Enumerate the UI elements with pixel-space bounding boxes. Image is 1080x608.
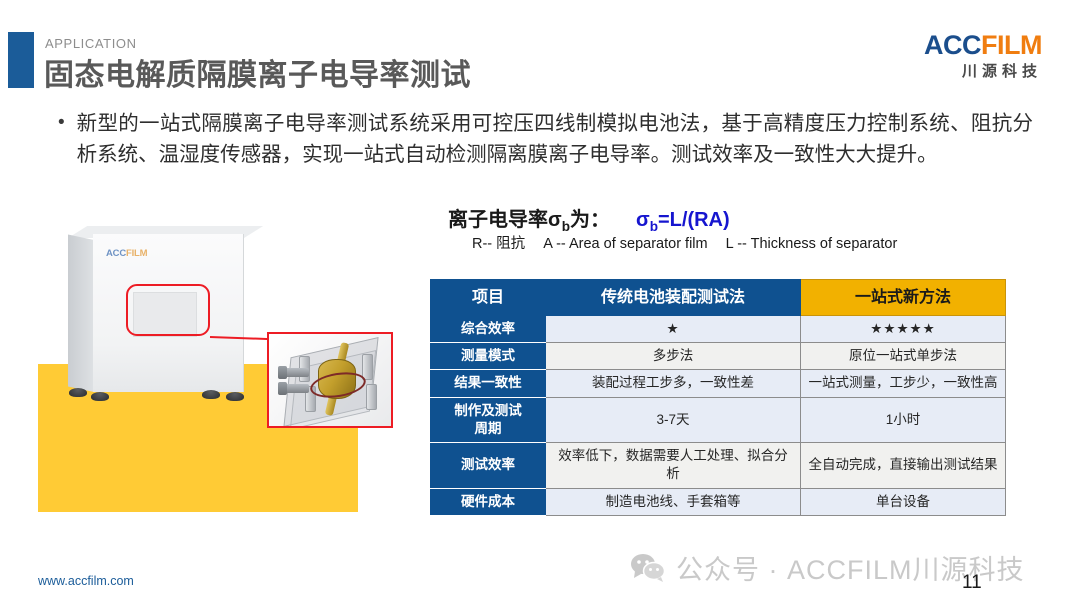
table-row: 结果一致性 装配过程工步多，一致性差 一站式测量，工步少，一致性高	[431, 370, 1006, 397]
logo-subtitle: 川源科技	[924, 64, 1042, 79]
comparison-table: 项目 传统电池装配测试法 一站式新方法 综合效率 ★ ★★★★★ 测量模式 多步…	[430, 279, 1006, 516]
row-label: 硬件成本	[431, 488, 546, 515]
row-value-traditional: ★	[546, 316, 801, 343]
column-header-new-method: 一站式新方法	[801, 280, 1006, 316]
title-accent-bar	[8, 32, 34, 88]
row-value-traditional: 制造电池线、手套箱等	[546, 488, 801, 515]
formula-expr-rhs: =L/(RA)	[658, 209, 730, 231]
intro-paragraph: 新型的一站式隔膜离子电导率测试系统采用可控压四线制模拟电池法，基于高精度压力控制…	[77, 108, 1033, 170]
cabinet-foot	[69, 388, 87, 397]
callout-highlight-box	[126, 284, 210, 336]
formula-label-prefix: 离子电导率σ	[448, 209, 562, 231]
table-header-row: 项目 传统电池装配测试法 一站式新方法	[431, 280, 1006, 316]
brand-logo: ACCFILM 川源科技	[924, 32, 1042, 79]
formula-label-suffix: 为：	[570, 209, 610, 231]
table-row: 测量模式 多步法 原位一站式单步法	[431, 343, 1006, 370]
table-row: 测试效率 效率低下，数据需要人工处理、拟合分析 全自动完成，直接输出测试结果	[431, 443, 1006, 488]
table-row: 综合效率 ★ ★★★★★	[431, 316, 1006, 343]
product-illustration: ACCFILM	[38, 212, 418, 512]
row-value-traditional: 3-7天	[546, 397, 801, 442]
row-value-new: 单台设备	[801, 488, 1006, 515]
row-label: 结果一致性	[431, 370, 546, 397]
legend-resistance: R-- 阻抗	[472, 236, 525, 252]
intro-bullet: • 新型的一站式隔膜离子电导率测试系统采用可控压四线制模拟电池法，基于高精度压力…	[58, 108, 1033, 170]
row-value-new: 原位一站式单步法	[801, 343, 1006, 370]
formula-expr-sigma: σ	[636, 209, 650, 231]
cabinet-foot	[226, 392, 244, 401]
legend-area: A -- Area of separator film	[543, 236, 707, 252]
logo-film-text: FILM	[981, 30, 1042, 60]
comparison-table-body: 项目 传统电池装配测试法 一站式新方法 综合效率 ★ ★★★★★ 测量模式 多步…	[431, 280, 1006, 516]
row-value-new: 一站式测量，工步少，一致性高	[801, 370, 1006, 397]
wechat-icon	[630, 553, 666, 583]
fixture-bolt	[285, 384, 309, 393]
cabinet-logo-acc: ACC	[106, 248, 126, 259]
table-row: 制作及测试 周期 3-7天 1小时	[431, 397, 1006, 442]
bullet-marker: •	[58, 108, 65, 170]
cabinet-side-face	[68, 234, 94, 392]
column-header-item: 项目	[431, 280, 546, 316]
formula-label: 离子电导率σb为：	[448, 203, 610, 234]
row-label: 综合效率	[431, 316, 546, 343]
page-eyebrow: APPLICATION	[45, 36, 137, 51]
row-value-new: 1小时	[801, 397, 1006, 442]
formula-expression: σb=L/(RA)	[636, 209, 730, 234]
table-row: 硬件成本 制造电池线、手套箱等 单台设备	[431, 488, 1006, 515]
footer-website-url[interactable]: www.accfilm.com	[38, 574, 134, 588]
fixture-post	[366, 384, 377, 410]
cabinet-logo-film: FILM	[126, 248, 147, 259]
formula-block: 离子电导率σb为： σb=L/(RA)	[448, 203, 730, 234]
formula-legend: R-- 阻抗 A -- Area of separator film L -- …	[472, 232, 897, 253]
row-label: 测试效率	[431, 443, 546, 488]
row-value-traditional: 装配过程工步多，一致性差	[546, 370, 801, 397]
row-label: 测量模式	[431, 343, 546, 370]
page-title: 固态电解质隔膜离子电导率测试	[44, 50, 471, 94]
cabinet-logo: ACCFILM	[106, 248, 147, 259]
page-number: 11	[962, 572, 982, 594]
row-value-new: 全自动完成，直接输出测试结果	[801, 443, 1006, 488]
test-cell-inset	[267, 332, 393, 428]
column-header-traditional: 传统电池装配测试法	[546, 280, 801, 316]
cabinet-foot	[202, 390, 220, 399]
row-value-new: ★★★★★	[801, 316, 1006, 343]
fixture-bolt	[285, 368, 309, 377]
logo-acc-text: ACC	[924, 30, 981, 60]
row-label: 制作及测试 周期	[431, 397, 546, 442]
logo-wordmark: ACCFILM	[924, 32, 1042, 59]
row-value-traditional: 多步法	[546, 343, 801, 370]
legend-thickness: L -- Thickness of separator	[726, 236, 898, 252]
cabinet-foot	[91, 392, 109, 401]
row-value-traditional: 效率低下，数据需要人工处理、拟合分析	[546, 443, 801, 488]
